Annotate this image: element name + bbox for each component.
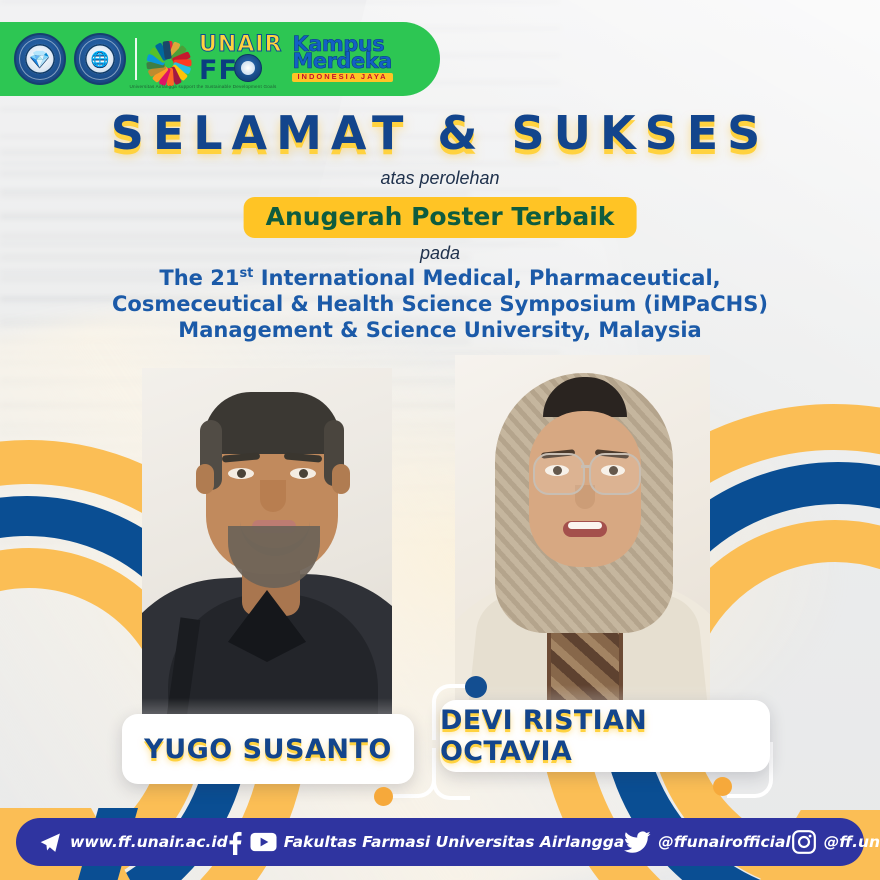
- twitter-group[interactable]: @ffunairofficial: [624, 831, 790, 854]
- ear-right: [332, 464, 350, 494]
- sdg-wheel-icon: [146, 36, 192, 82]
- twitter-handle[interactable]: @ffunairofficial: [658, 833, 790, 851]
- pupil-right: [299, 469, 308, 478]
- orange-dot-decoration-right: [713, 777, 732, 796]
- event-details: The 21st International Medical, Pharmace…: [0, 266, 880, 343]
- orange-dot-decoration-left: [374, 787, 393, 806]
- awardee-photo-left: [142, 368, 392, 768]
- glasses-lens-right: [589, 453, 641, 495]
- footer-contact-bar: www.ff.unair.ac.id Fakultas Farmasi Univ…: [16, 818, 864, 866]
- facebook-icon[interactable]: [228, 830, 243, 855]
- tut-wuri-glyph: 💎: [29, 51, 50, 68]
- event-line-1-pre: The 21: [159, 266, 239, 290]
- event-line-1-post: International Medical, Pharmaceutical,: [253, 266, 720, 290]
- kampus-tagline: INDONESIA JAYA: [292, 73, 392, 82]
- ffo-seal-icon: [234, 54, 262, 82]
- event-line-2: Cosmeceutical & Health Science Symposium…: [0, 292, 880, 318]
- kemendikbud-seal-icon: 💎: [14, 33, 66, 85]
- blue-dot-decoration: [465, 676, 487, 698]
- on-label: pada: [0, 243, 880, 264]
- page-title: SELAMAT & SUKSES: [0, 106, 880, 160]
- unair-seal-icon: 🌐: [74, 33, 126, 85]
- sdg-support-caption: Universitas Airlangga support the Sustai…: [78, 84, 328, 89]
- pupil-left: [237, 469, 246, 478]
- prefix-label: atas perolehan: [0, 168, 880, 189]
- merdeka-word: Merdeka: [292, 53, 391, 70]
- website-url[interactable]: www.ff.unair.ac.id: [70, 833, 228, 851]
- website-group[interactable]: www.ff.unair.ac.id: [38, 830, 228, 855]
- teeth: [568, 522, 602, 529]
- glasses-lens-left: [533, 453, 585, 495]
- event-line-1: The 21st International Medical, Pharmace…: [0, 266, 880, 292]
- logo-divider: [135, 38, 137, 80]
- ff-wordmark: FF: [199, 59, 238, 83]
- twitter-icon[interactable]: [624, 831, 651, 854]
- logo-row: 💎 🌐: [0, 33, 393, 85]
- awardee-name-left: YUGO SUSANTO: [122, 714, 414, 784]
- event-line-3: Management & Science University, Malaysi…: [0, 318, 880, 344]
- awardee-photo-right: [455, 355, 710, 755]
- globe-glyph: 🌐: [91, 52, 110, 67]
- instagram-group[interactable]: @ff.unair: [791, 829, 880, 855]
- telegram-icon[interactable]: [38, 830, 63, 855]
- ear-left: [196, 464, 214, 494]
- youtube-icon[interactable]: [250, 832, 277, 852]
- kampus-merdeka-logo: Kampus Merdeka INDONESIA JAYA: [292, 36, 392, 82]
- unair-wordmark: UNAIR: [199, 35, 282, 54]
- page-group[interactable]: Fakultas Farmasi Universitas Airlangga: [228, 830, 625, 855]
- glasses-bridge: [581, 465, 591, 468]
- awardee-name-right: DEVI RISTIAN OCTAVIA: [440, 700, 770, 772]
- congratulations-poster: 💎 🌐: [0, 0, 880, 880]
- page-name[interactable]: Fakultas Farmasi Universitas Airlangga: [284, 833, 625, 851]
- ordinal-suffix: st: [239, 266, 253, 281]
- hair: [204, 392, 340, 454]
- instagram-handle[interactable]: @ff.unair: [824, 833, 880, 851]
- unair-ffo-logo: UNAIR FF: [199, 35, 282, 83]
- award-badge: Anugerah Poster Terbaik: [244, 197, 637, 238]
- instagram-icon[interactable]: [791, 829, 817, 855]
